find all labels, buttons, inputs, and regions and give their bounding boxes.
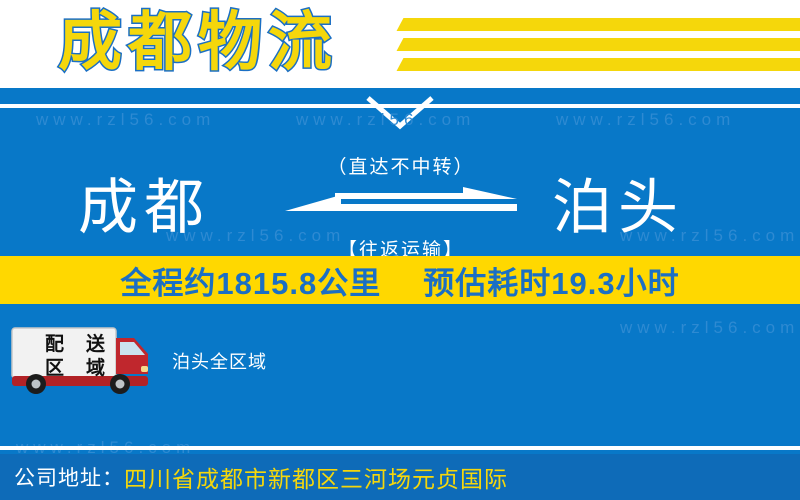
stripe-3 [397,58,800,71]
truck-label: 配 送 区 域 [34,332,116,380]
address-label: 公司地址： [14,462,124,492]
divider-bottom [0,446,800,450]
route-row: 成都 （直达不中转） 【往返运输】 泊头 [0,158,800,268]
stripe-1 [397,18,800,31]
watermark: www.rzl56.com [556,110,735,130]
truck-label-char-1: 配 [45,335,64,354]
trip-info-band: 全程约1815.8公里 预估耗时19.3小时 [0,256,800,304]
direct-route-note: （直达不中转） [285,152,517,179]
banner-header: 成都物流 [0,0,800,88]
trip-duration: 预估耗时19.3小时 [423,258,679,303]
address-value: 四川省成都市新都区三河场元贞国际 [124,460,508,494]
stripe-2 [397,38,800,51]
logistics-banner: 成都物流 www.rzl56.comwww.rzl56.comwww.rzl56… [0,0,800,500]
truck-label-char-3: 区 [45,359,64,378]
page-title: 成都物流 [58,0,338,86]
destination-city: 泊头 [552,158,684,258]
watermark: www.rzl56.com [296,110,475,130]
route-middle: （直达不中转） 【往返运输】 [285,152,517,262]
truck-label-char-4: 域 [86,359,105,378]
origin-city: 成都 [78,158,210,258]
delivery-truck-icon: 配 送 区 域 [8,326,153,394]
watermark: www.rzl56.com [36,110,215,130]
decorative-stripes [380,0,800,88]
truck-label-char-2: 送 [86,335,105,354]
delivery-area-text: 泊头全区域 [172,348,267,374]
banner-body: www.rzl56.comwww.rzl56.comwww.rzl56.comw… [0,88,800,454]
trip-distance: 全程约1815.8公里 [120,258,381,303]
delivery-row: 配 送 区 域 泊头全区域 [0,326,800,406]
bidirectional-arrow-icon [285,187,517,229]
company-address-bar: 公司地址： 四川省成都市新都区三河场元贞国际 [0,454,800,500]
